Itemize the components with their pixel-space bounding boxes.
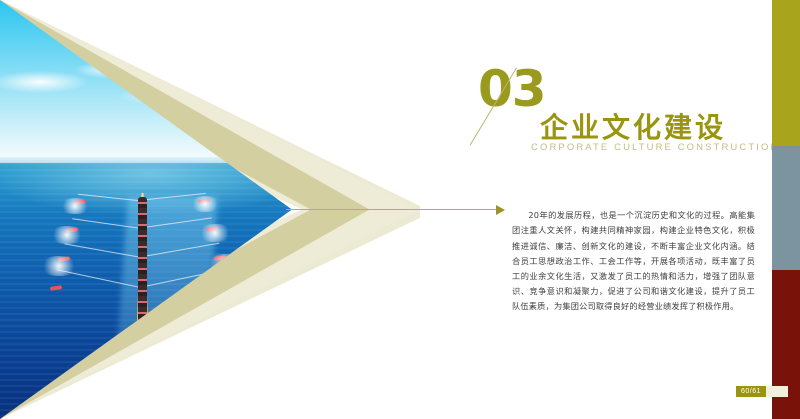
color-bar-steel [772,146,800,270]
connector-arrow-icon [496,205,505,215]
photo-water-splash [188,196,222,212]
page-subtitle: CORPORATE CULTURE CONSTRUCTION [531,142,779,153]
photo-rowers [138,197,147,335]
photo-water-splash [48,226,86,244]
photo-water-splash [38,256,80,276]
section-heading: 03 企业文化建设 CORPORATE CULTURE CONSTRUCTION [478,64,768,168]
color-bar-olive [772,0,800,146]
page-number-label: 60/61 [736,386,766,397]
section-number: 03 [478,64,546,114]
page-title: 企业文化建设 [540,106,726,146]
body-paragraph: 20年的发展历程，也是一个沉淀历史和文化的过程。高能集团注重人文关怀，构建共同精… [512,208,755,314]
brochure-page: 03 企业文化建设 CORPORATE CULTURE CONSTRUCTION… [0,0,800,419]
photo-water-splash [58,198,92,214]
edge-color-bars [772,0,800,419]
page-number-badge: 60/61 [736,386,788,397]
connector-line [286,209,498,210]
page-number-tail [766,386,788,397]
photo-water-splash [196,224,234,242]
